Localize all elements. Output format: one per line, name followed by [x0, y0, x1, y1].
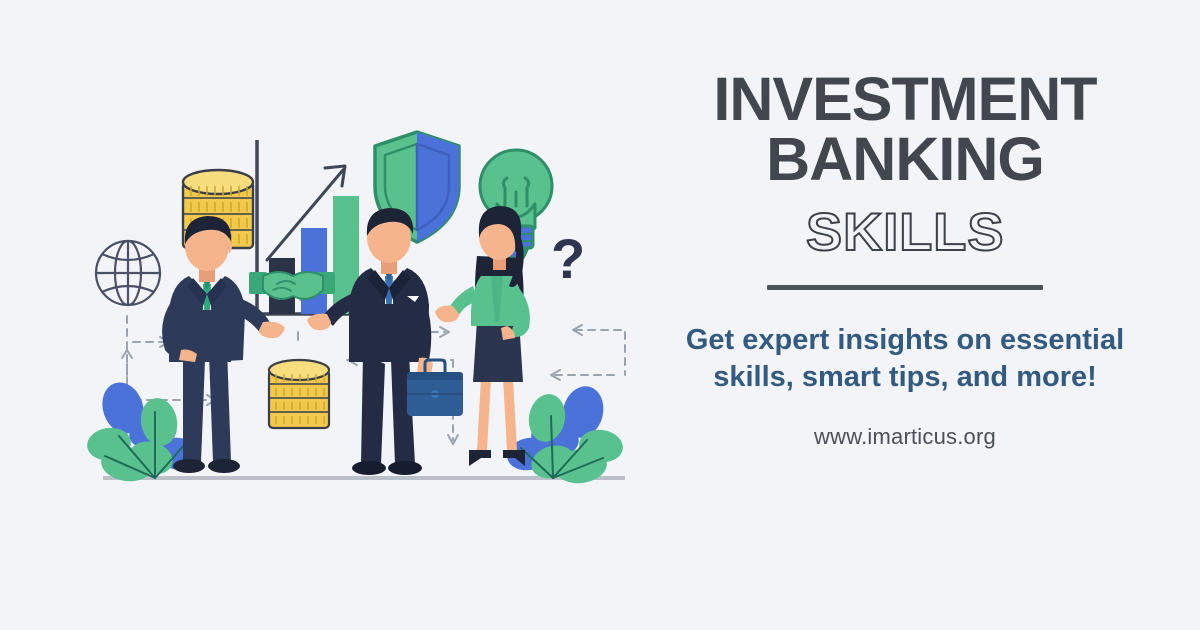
- website-url: www.imarticus.org: [814, 424, 996, 450]
- question-mark-icon: ?: [551, 227, 585, 290]
- briefcase-icon: [407, 360, 463, 416]
- businesswoman-right: [435, 206, 530, 466]
- divider: [767, 285, 1043, 290]
- businessman-center: [307, 208, 463, 475]
- plant-icon-right: [504, 382, 625, 487]
- page-title: INVESTMENT BANKING: [650, 70, 1160, 190]
- title-line-1: INVESTMENT: [713, 65, 1096, 133]
- bar-2: [301, 228, 327, 314]
- title-line-2: BANKING: [650, 130, 1160, 190]
- text-panel: INVESTMENT BANKING SKILLS Get expert ins…: [650, 70, 1160, 510]
- businessman-left: [162, 216, 285, 473]
- coin-stack-icon-lower: [269, 360, 329, 428]
- illustration: ?: [85, 110, 645, 510]
- banner-canvas: ?: [0, 0, 1200, 630]
- accent-word-skills: SKILLS: [806, 202, 1004, 263]
- subtitle: Get expert insights on essential skills,…: [665, 322, 1145, 396]
- globe-icon: [96, 241, 160, 305]
